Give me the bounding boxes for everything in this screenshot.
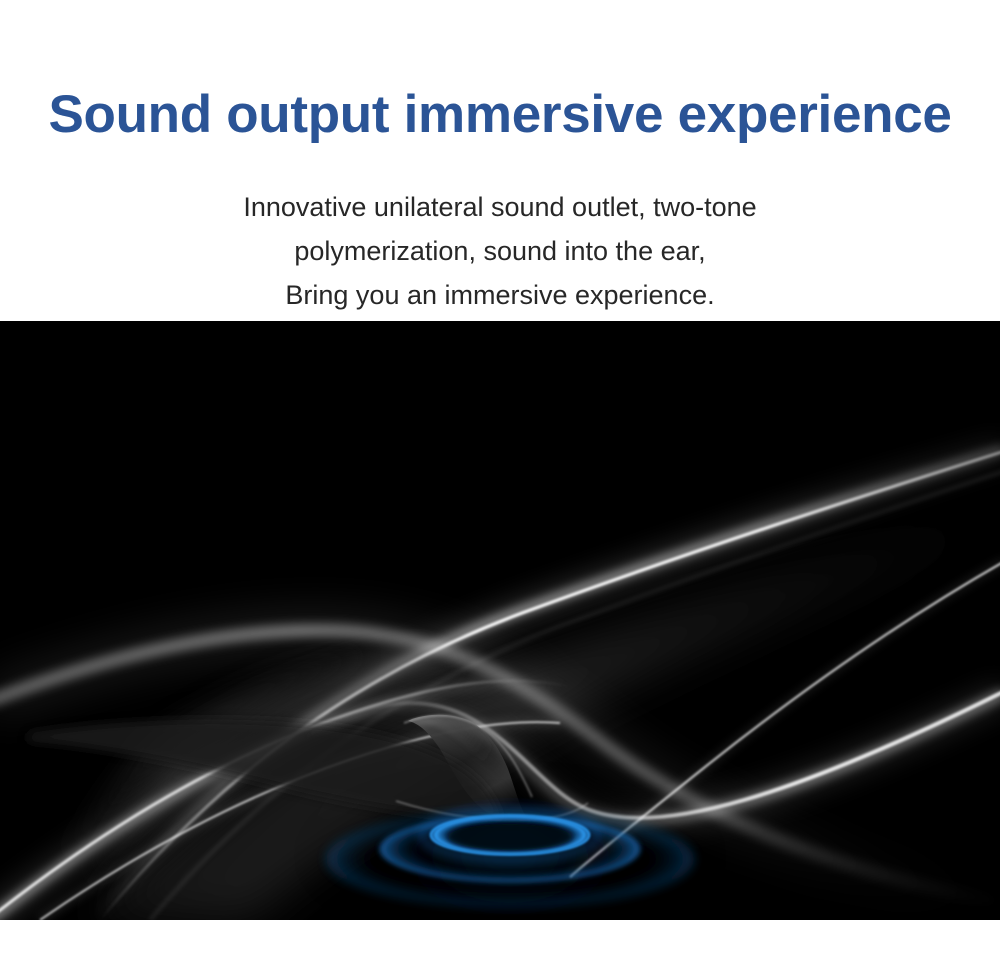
product-hero-image <box>0 321 1000 920</box>
subtitle-line-3: Bring you an immersive experience. <box>0 273 1000 317</box>
header-section: Sound output immersive experience Innova… <box>0 0 1000 321</box>
subtitle-block: Innovative unilateral sound outlet, two-… <box>0 185 1000 317</box>
product-feature-banner: Sound output immersive experience Innova… <box>0 0 1000 957</box>
subtitle-line-1: Innovative unilateral sound outlet, two-… <box>0 185 1000 229</box>
ripple-core-shadow <box>448 824 572 850</box>
footer-strip <box>0 920 1000 957</box>
subtitle-line-2: polymerization, sound into the ear, <box>0 229 1000 273</box>
earphone-illustration <box>0 321 1000 920</box>
page-title: Sound output immersive experience <box>0 86 1000 144</box>
